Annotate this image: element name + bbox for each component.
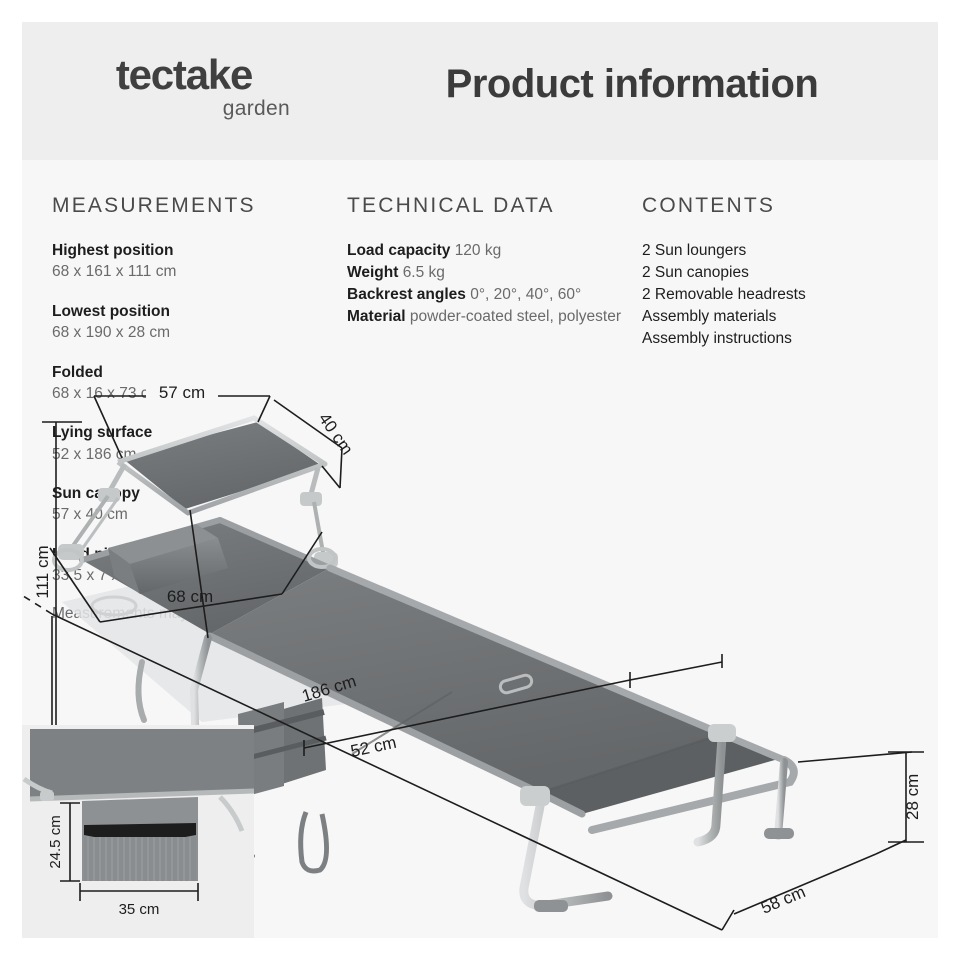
dim-label-lowest-length: 190 cm bbox=[22, 550, 27, 599]
technical-data-column: TECHNICAL DATA Load capacity 120 kg Weig… bbox=[347, 194, 637, 328]
technical-value: 6.5 kg bbox=[403, 264, 445, 281]
inset-dim-label-width: 35 cm bbox=[119, 901, 160, 918]
technical-item: Backrest angles 0°, 20°, 40°, 60° bbox=[347, 284, 637, 306]
dim-label-backrest-width: 68 cm bbox=[167, 587, 213, 606]
dim-label-height: 111 cm bbox=[33, 545, 52, 598]
dim-ext-28-top bbox=[798, 752, 912, 762]
leg-hinge-mid bbox=[520, 786, 550, 806]
canopy-strut-left bbox=[70, 496, 108, 550]
leg-foot-right bbox=[778, 762, 784, 836]
contents-item: 2 Removable headrests bbox=[642, 284, 932, 306]
inset-pocket-mesh bbox=[84, 837, 196, 881]
technical-label: Material bbox=[347, 308, 406, 325]
cross-brace-strap bbox=[301, 812, 327, 871]
technical-label: Weight bbox=[347, 264, 398, 281]
contents-column: CONTENTS 2 Sun loungers 2 Sun canopies 2… bbox=[642, 194, 932, 350]
foot-cap-front bbox=[534, 900, 568, 912]
inset-hinge bbox=[40, 791, 54, 801]
measurement-label: Lowest position bbox=[52, 301, 342, 322]
brand-logo: tectake garden bbox=[74, 54, 294, 119]
technical-item: Weight 6.5 kg bbox=[347, 262, 637, 284]
contents-item: Assembly instructions bbox=[642, 328, 932, 350]
leg-head-brace bbox=[138, 662, 144, 720]
product-info-card: tectake garden Product information MEASU… bbox=[22, 22, 938, 938]
measurement-item: Lowest position 68 x 190 x 28 cm bbox=[52, 301, 342, 344]
leg-mid-front bbox=[524, 796, 608, 906]
measurements-heading: MEASUREMENTS bbox=[52, 194, 342, 218]
dim-ext-40b bbox=[322, 466, 340, 488]
dim-ext-57-left bbox=[94, 396, 122, 458]
technical-value: powder-coated steel, polyester bbox=[410, 308, 621, 325]
inset-lounger-fabric bbox=[30, 729, 254, 799]
dim-label-canopy-width: 57 cm bbox=[159, 383, 205, 402]
technical-value: 0°, 20°, 40°, 60° bbox=[470, 286, 581, 303]
pocket-detail-inset: 24.5 cm 35 cm bbox=[22, 725, 254, 938]
canopy-fabric bbox=[122, 422, 322, 509]
technical-item: Load capacity 120 kg bbox=[347, 240, 637, 262]
dim-line-52b bbox=[630, 662, 722, 680]
page-title: Product information bbox=[352, 62, 912, 107]
contents-heading: CONTENTS bbox=[642, 194, 932, 218]
dim-label-foot-height: 28 cm bbox=[903, 774, 922, 820]
technical-value: 120 kg bbox=[455, 242, 502, 259]
leg-hinge-back bbox=[708, 724, 736, 742]
brand-subline: garden bbox=[74, 98, 294, 119]
foot-cap-right bbox=[764, 828, 794, 839]
brand-name: tectake bbox=[74, 54, 294, 96]
dim-tick-161 bbox=[722, 910, 734, 930]
technical-label: Backrest angles bbox=[347, 286, 466, 303]
measurement-value: 68 x 161 x 111 cm bbox=[52, 261, 342, 282]
measurement-item: Highest position 68 x 161 x 111 cm bbox=[52, 240, 342, 283]
dim-label-foot-width: 58 cm bbox=[758, 882, 808, 918]
technical-item: Material powder-coated steel, polyester bbox=[347, 306, 637, 328]
contents-item: Assembly materials bbox=[642, 306, 932, 328]
inset-dim-label-height: 24.5 cm bbox=[47, 815, 64, 868]
contents-item: 2 Sun canopies bbox=[642, 262, 932, 284]
technical-label: Load capacity bbox=[347, 242, 450, 259]
technical-heading: TECHNICAL DATA bbox=[347, 194, 637, 218]
contents-item: 2 Sun loungers bbox=[642, 240, 932, 262]
measurement-label: Highest position bbox=[52, 240, 342, 261]
header-band: tectake garden Product information bbox=[22, 22, 938, 160]
dim-line-58 bbox=[734, 854, 876, 914]
dim-ext-57-right bbox=[258, 396, 270, 422]
measurement-value: 68 x 190 x 28 cm bbox=[52, 322, 342, 343]
canopy-hinge-right bbox=[300, 492, 322, 506]
